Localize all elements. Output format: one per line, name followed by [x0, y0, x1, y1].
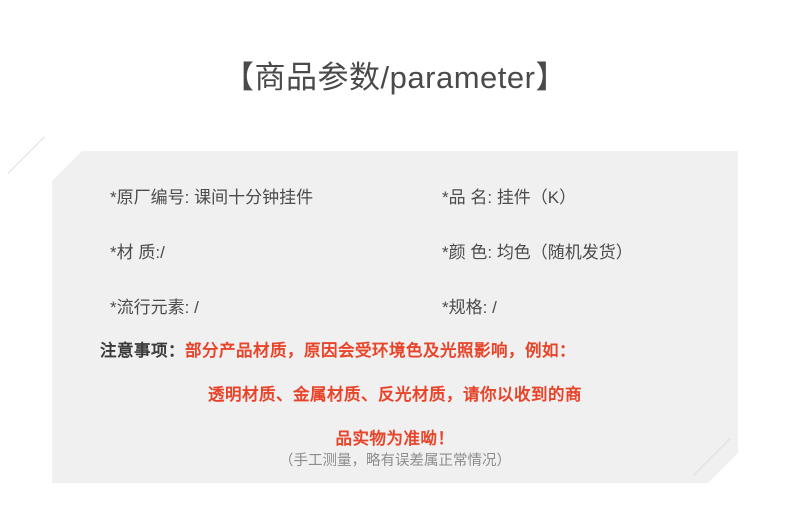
spec-item-material: *材 质:/ — [110, 239, 165, 267]
spec-item-factory-code: *原厂编号: 课间十分钟挂件 — [110, 184, 313, 212]
required-star: * — [110, 298, 117, 317]
product-parameter-page: 【商品参数/parameter】 *原厂编号: 课间十分钟挂件 *品 名: 挂件… — [0, 0, 790, 528]
spec-label: 流行元素: — [117, 298, 190, 317]
notice-text-1: 部分产品材质，原因会受环境色及光照影响，例如： — [185, 342, 576, 360]
spec-label: 原厂编号: — [117, 188, 190, 207]
notice-line-3: 品实物为准呦！ — [52, 426, 738, 452]
page-title-container: 【商品参数/parameter】 — [0, 58, 790, 98]
required-star: * — [442, 188, 449, 207]
notice-text-3: 品实物为准呦！ — [336, 430, 455, 448]
measurement-footnote: （手工测量，略有误差属正常情况） — [52, 450, 738, 472]
spec-label: 品 名: — [449, 188, 492, 207]
required-star: * — [442, 243, 449, 262]
required-star: * — [110, 243, 117, 262]
notice-text-2: 透明材质、金属材质、反光材质，请你以收到的商 — [208, 386, 582, 404]
spec-value: 课间十分钟挂件 — [194, 188, 313, 207]
spec-value: / — [160, 243, 165, 262]
required-star: * — [110, 188, 117, 207]
spec-label: 颜 色: — [449, 243, 492, 262]
spec-value: / — [194, 298, 199, 317]
spec-row: *材 质:/ *颜 色: 均色（随机发货） — [52, 239, 738, 267]
spec-value: / — [492, 298, 497, 317]
spec-item-product-name: *品 名: 挂件（K） — [442, 184, 576, 212]
spec-item-specification: *规格: / — [442, 294, 497, 322]
notice-label: 注意事项： — [100, 342, 185, 360]
spec-item-trend-element: *流行元素: / — [110, 294, 199, 322]
spec-row: *原厂编号: 课间十分钟挂件 *品 名: 挂件（K） — [52, 184, 738, 212]
spec-grid: *原厂编号: 课间十分钟挂件 *品 名: 挂件（K） *材 质:/ *颜 色: … — [52, 151, 738, 351]
panel-bevel-top-left — [8, 136, 45, 173]
spec-label: 材 质: — [117, 243, 160, 262]
notice-line-1: 注意事项：部分产品材质，原因会受环境色及光照影响，例如： — [100, 338, 576, 364]
spec-value: 均色（随机发货） — [497, 243, 633, 262]
notice-line-2: 透明材质、金属材质、反光材质，请你以收到的商 — [52, 382, 738, 408]
spec-value: 挂件（K） — [497, 188, 576, 207]
spec-item-color: *颜 色: 均色（随机发货） — [442, 239, 633, 267]
required-star: * — [442, 298, 449, 317]
spec-row: *流行元素: / *规格: / — [52, 294, 738, 322]
page-title: 【商品参数/parameter】 — [223, 58, 567, 98]
spec-label: 规格: — [449, 298, 488, 317]
